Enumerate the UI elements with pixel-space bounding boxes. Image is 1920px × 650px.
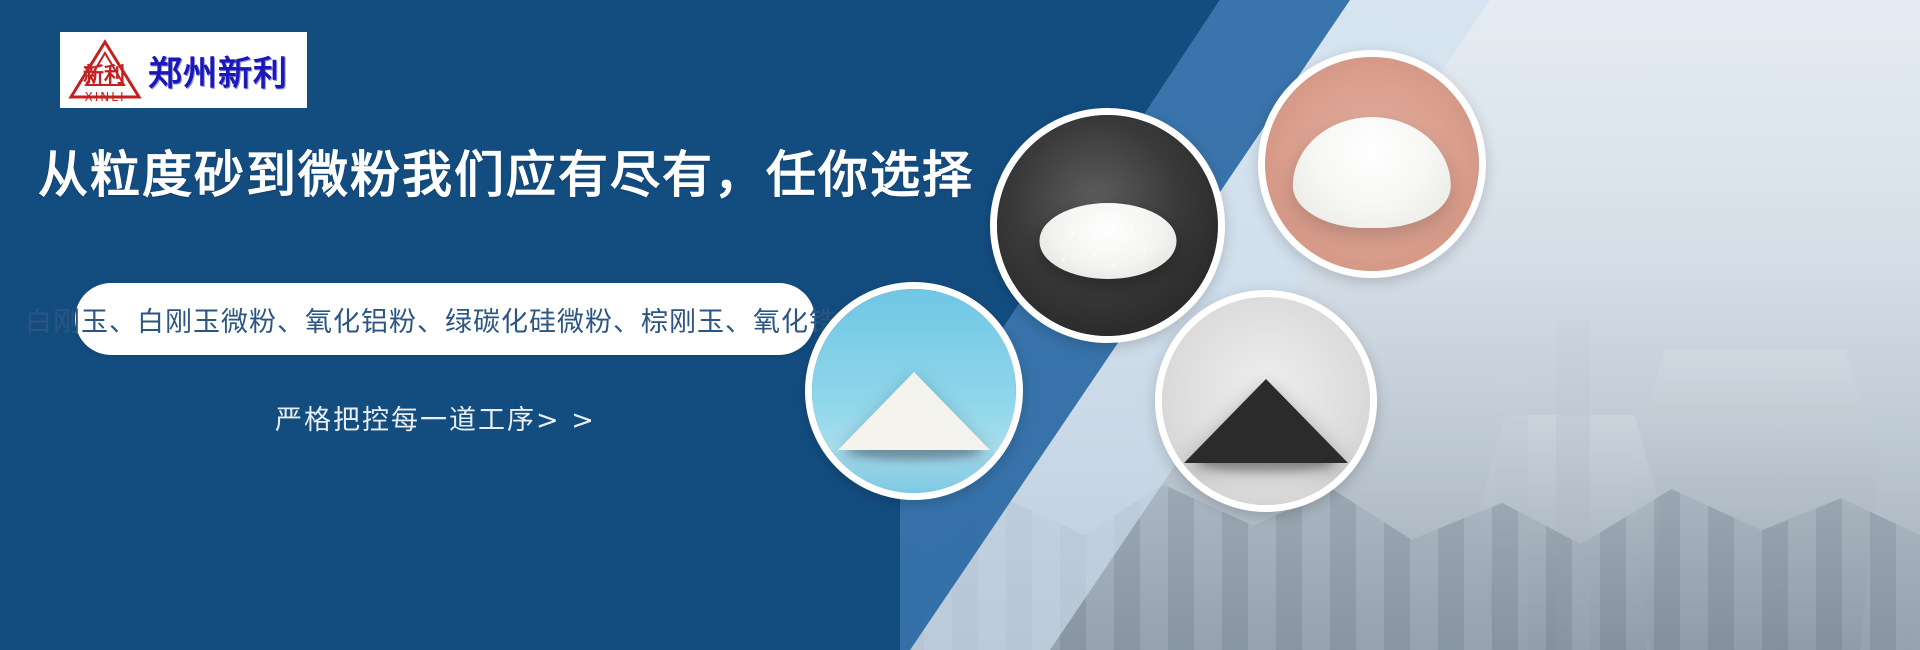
grain-speckle-texture	[1050, 217, 1165, 271]
product-photo-black-grain-cone[interactable]	[1155, 290, 1377, 512]
white-grain-heap	[1039, 203, 1176, 278]
product-photo-white-powder-pink-tray[interactable]	[1258, 50, 1486, 278]
white-powder-mound	[1293, 117, 1451, 228]
svg-text:新利: 新利	[83, 63, 125, 87]
headline-text: 从粒度砂到微粉我们应有尽有，任你选择	[38, 146, 974, 204]
product-photo-white-background	[1162, 297, 1370, 505]
subline-link[interactable]: 严格把控每一道工序> >	[275, 398, 596, 437]
product-photo-powder-cone-blue[interactable]	[805, 282, 1023, 500]
svg-text:XINLI: XINLI	[85, 90, 126, 103]
xinli-triangle-icon: 新利 XINLI	[68, 37, 142, 103]
product-list-pill[interactable]: 白刚玉、白刚玉微粉、氧化铝粉、绿碳化硅微粉、棕刚玉、氧化锆等	[75, 283, 815, 355]
product-photo-blue-background	[812, 289, 1016, 493]
hero-banner: 新利 XINLI 郑州新利 从粒度砂到微粉我们应有尽有，任你选择 白刚玉、白刚玉…	[0, 0, 1920, 650]
product-photo-pink-background	[1265, 57, 1479, 271]
black-grain-cone	[1184, 379, 1348, 463]
white-powder-cone	[838, 372, 990, 450]
product-list-text: 白刚玉、白刚玉微粉、氧化铝粉、绿碳化硅微粉、棕刚玉、氧化锆等	[25, 300, 865, 339]
brand-logo[interactable]: 新利 XINLI 郑州新利	[60, 32, 307, 108]
brand-name-text: 郑州新利	[148, 46, 288, 95]
